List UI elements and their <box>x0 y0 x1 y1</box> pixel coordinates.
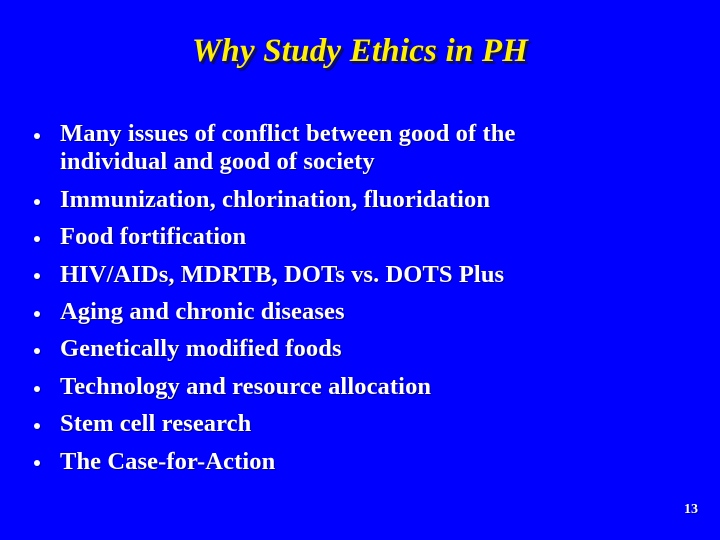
list-item-label: Technology and resource allocation <box>60 373 624 401</box>
presentation-slide: Why Study Ethics in PH Many issues of co… <box>0 0 720 540</box>
bullet-dot-icon <box>34 460 40 466</box>
list-item-label: Food fortification <box>60 223 624 251</box>
list-item-label: Stem cell research <box>60 410 624 438</box>
list-item: Food fortification <box>24 223 624 251</box>
list-item: Technology and resource allocation <box>24 373 624 401</box>
list-item: The Case-for-Action <box>24 448 624 476</box>
bullet-dot-icon <box>34 423 40 429</box>
list-item: Immunization, chlorination, fluoridation <box>24 186 624 214</box>
list-item: Many issues of conflict between good of … <box>24 120 624 177</box>
bullet-dot-icon <box>34 273 40 279</box>
page-title: Why Study Ethics in PH <box>192 34 528 69</box>
slide-title-block: Why Study Ethics in PH <box>0 34 720 69</box>
bullet-dot-icon <box>34 311 40 317</box>
list-item-label: HIV/AIDs, MDRTB, DOTs vs. DOTS Plus <box>60 261 624 289</box>
list-item-label: Genetically modified foods <box>60 335 624 363</box>
list-item: HIV/AIDs, MDRTB, DOTs vs. DOTS Plus <box>24 261 624 289</box>
bullet-dot-icon <box>34 236 40 242</box>
slide-page-number: 13 <box>684 502 698 518</box>
bullet-dot-icon <box>34 348 40 354</box>
bullet-dot-icon <box>34 133 40 139</box>
list-item-label: Many issues of conflict between good of … <box>60 120 624 177</box>
bullet-dot-icon <box>34 386 40 392</box>
list-item: Stem cell research <box>24 410 624 438</box>
list-item-label: Immunization, chlorination, fluoridation <box>60 186 624 214</box>
list-item-label: Aging and chronic diseases <box>60 298 624 326</box>
list-item-label: The Case-for-Action <box>60 448 624 476</box>
list-item: Aging and chronic diseases <box>24 298 624 326</box>
list-item: Genetically modified foods <box>24 335 624 363</box>
bullet-list: Many issues of conflict between good of … <box>24 120 624 476</box>
bullet-dot-icon <box>34 199 40 205</box>
